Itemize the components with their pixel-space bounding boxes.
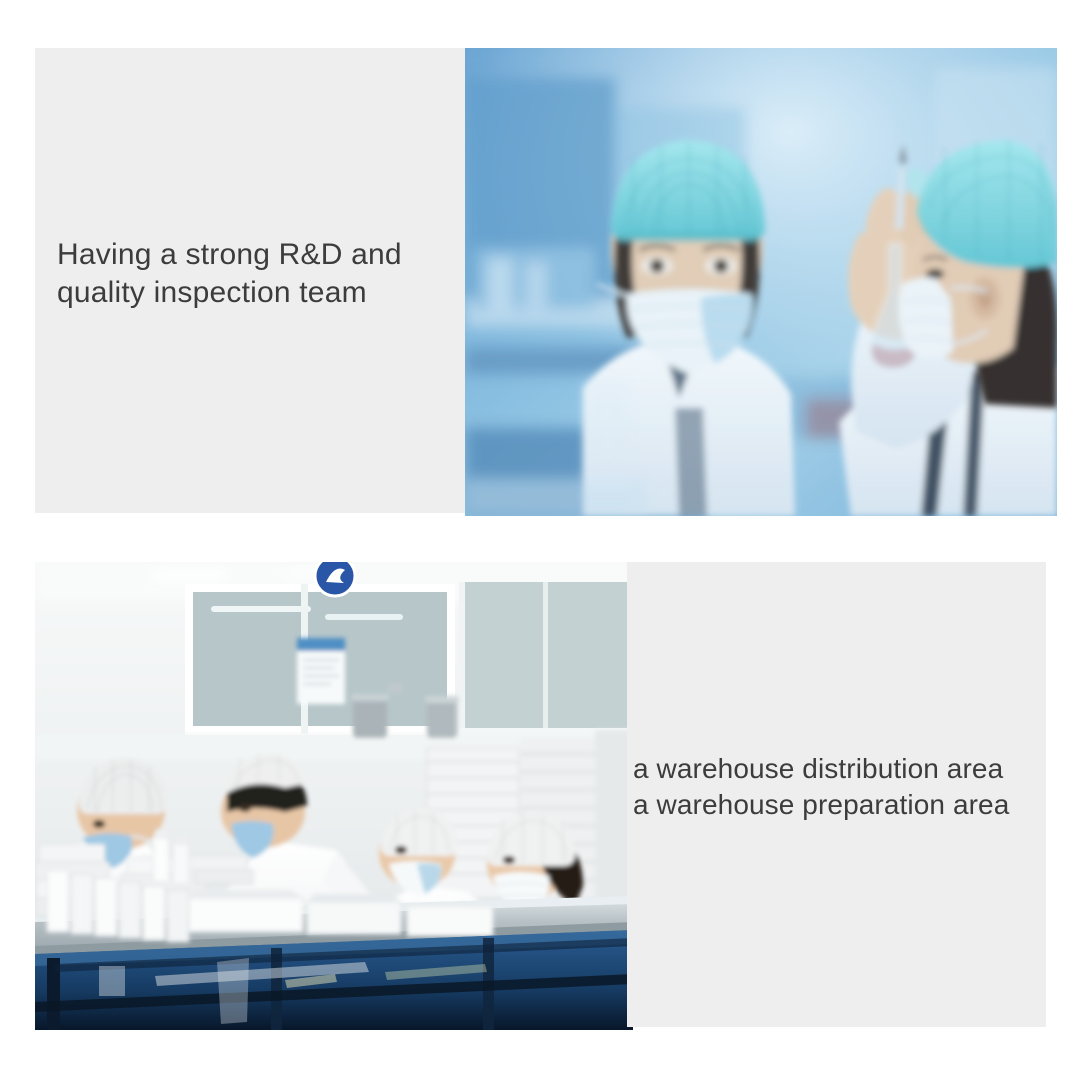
lab-inspection-photo [465, 48, 1057, 516]
warehouse-packing-photo-graphic [35, 562, 633, 1030]
wall-sign [315, 562, 355, 596]
bottom-caption-text: a warehouse distribution area a warehous… [633, 751, 1053, 823]
top-caption-panel: Having a strong R&D and quality inspecti… [35, 48, 467, 513]
top-section: Having a strong R&D and quality inspecti… [35, 48, 1057, 516]
bottom-caption-panel: a warehouse distribution area a warehous… [627, 562, 1046, 1027]
lab-inspection-photo-graphic [465, 48, 1057, 516]
bottom-section: a warehouse distribution area a warehous… [35, 562, 1046, 1030]
top-caption-text: Having a strong R&D and quality inspecti… [57, 236, 457, 312]
warehouse-packing-photo [35, 562, 633, 1030]
